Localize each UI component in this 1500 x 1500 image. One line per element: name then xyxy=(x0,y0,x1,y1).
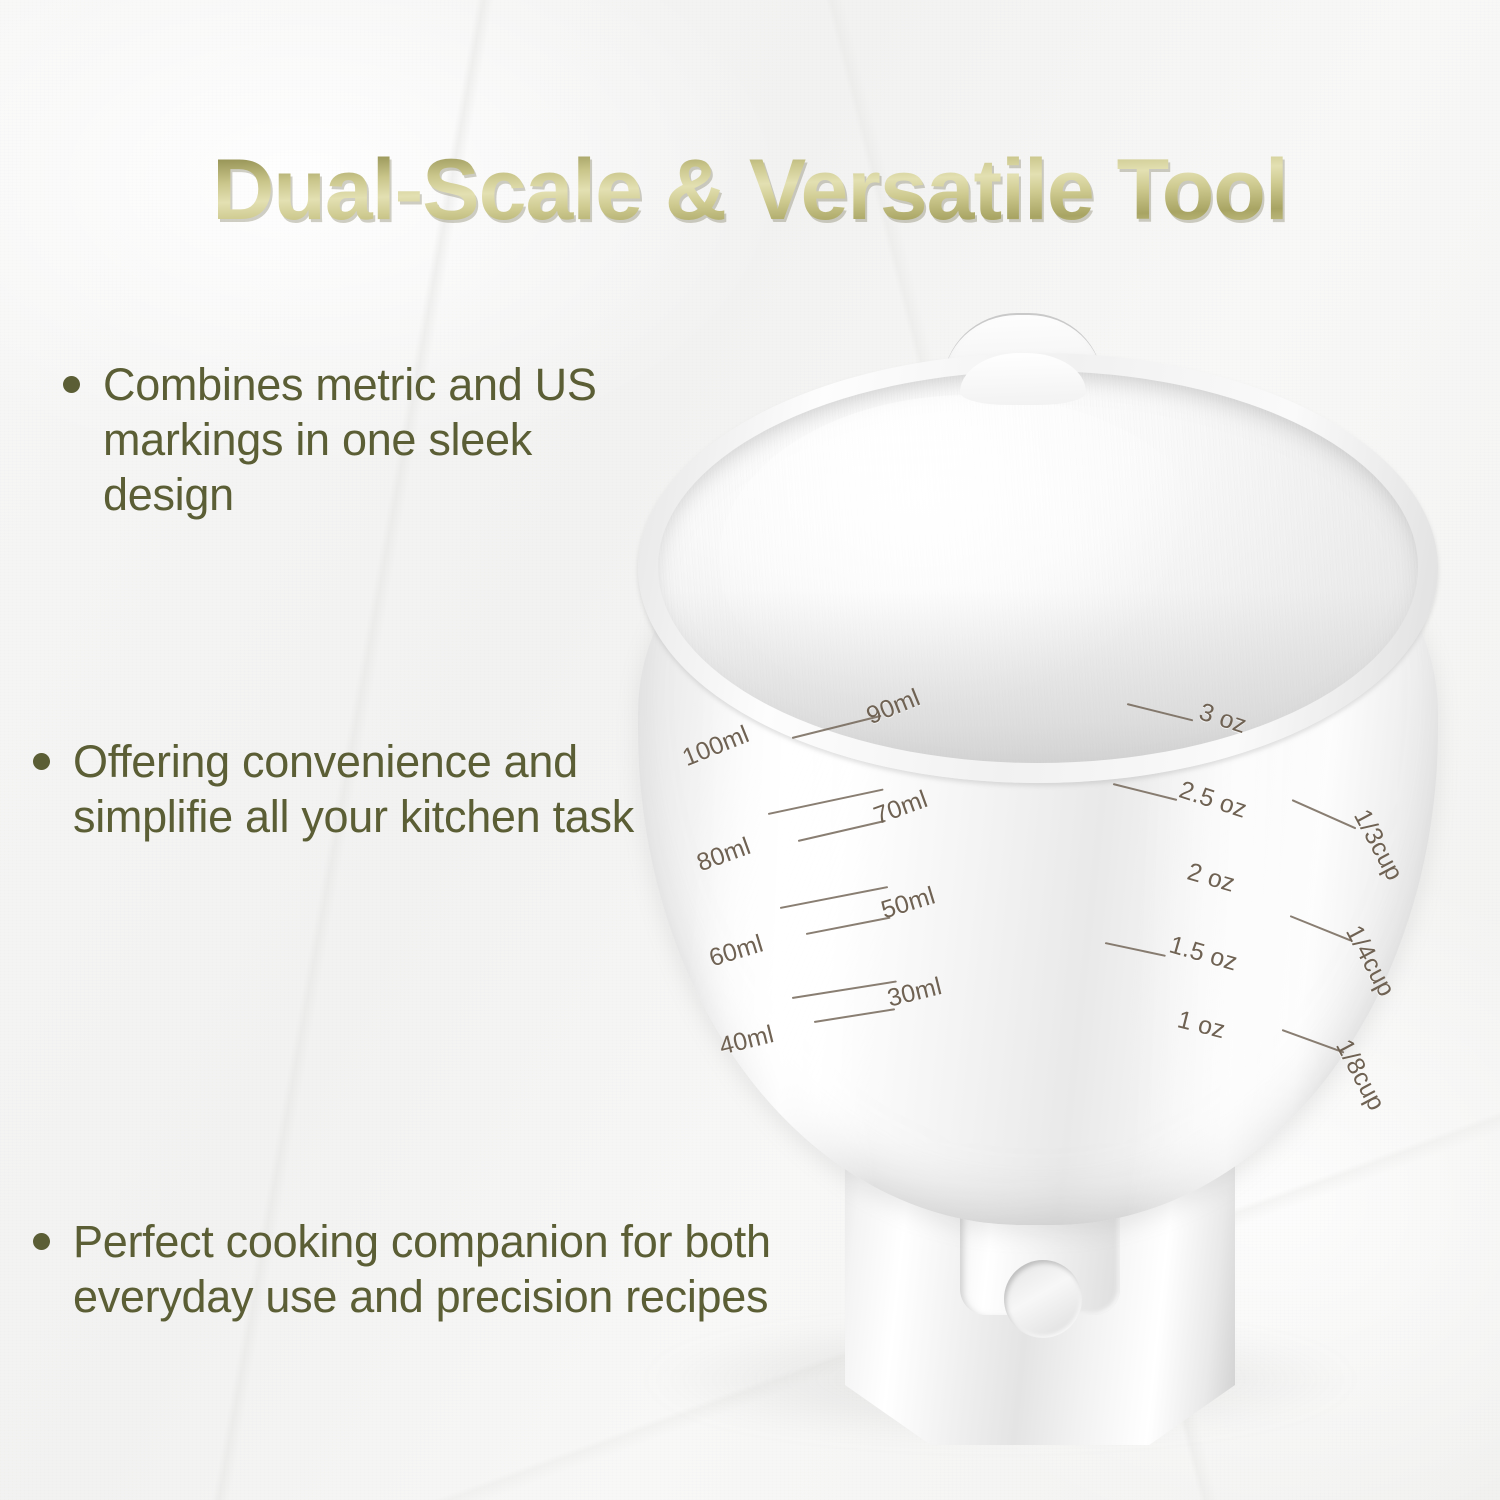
page-title: Dual-Scale & Versatile Tool xyxy=(0,145,1500,235)
product-infographic: Dual-Scale & Versatile Tool Combines met… xyxy=(0,0,1500,1500)
feature-bullet-1-text: Combines metric and US markings in one s… xyxy=(63,358,663,523)
cup-interior xyxy=(658,371,1418,763)
interior-floor-shading xyxy=(658,591,1418,763)
handle-hanging-hole xyxy=(1004,1260,1082,1338)
bullet-dot-icon xyxy=(63,376,80,393)
feature-bullet-1: Combines metric and US markings in one s… xyxy=(63,358,663,523)
bullet-dot-icon xyxy=(33,753,50,770)
feature-bullet-2: Offering convenience and simplifie all y… xyxy=(33,735,643,845)
bullet-dot-icon xyxy=(33,1233,50,1250)
feature-bullet-2-text: Offering convenience and simplifie all y… xyxy=(33,735,643,845)
product-measuring-cup: 120ml 1/2 CUP 100ml90ml80ml70ml60ml50ml4… xyxy=(600,305,1500,1455)
